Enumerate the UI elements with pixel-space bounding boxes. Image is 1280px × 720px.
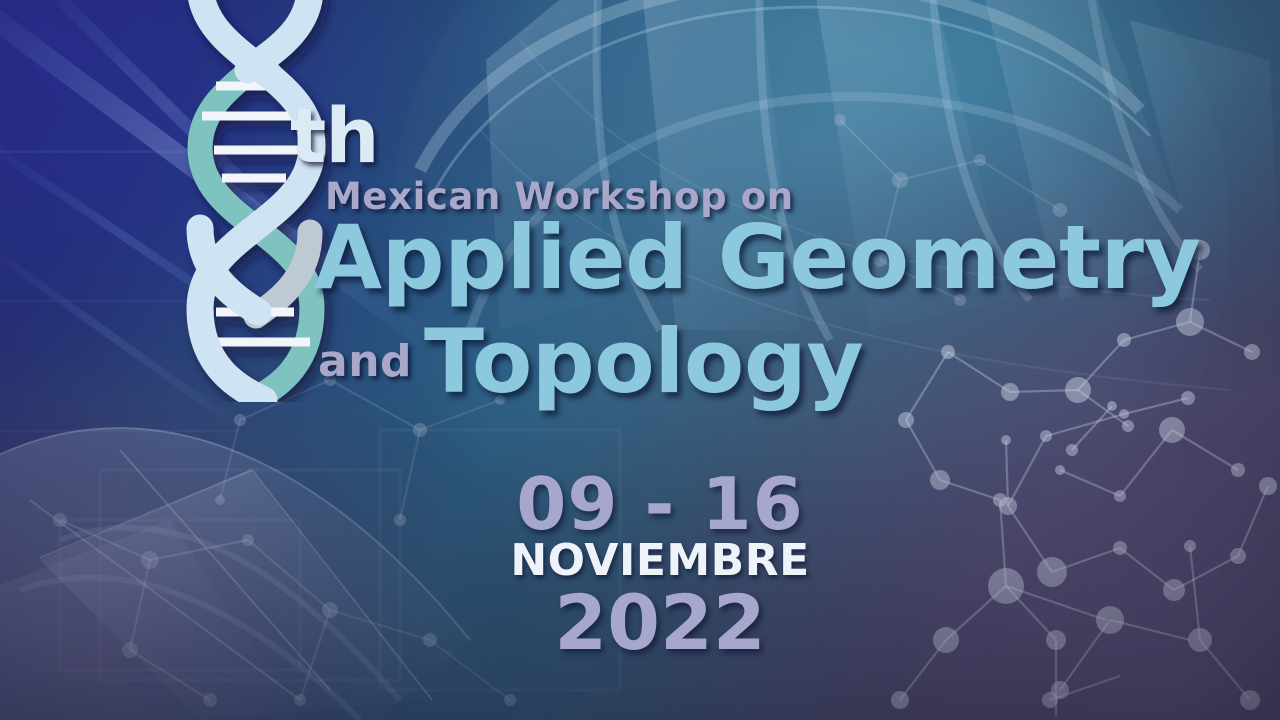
- poster-canvas: th Mexican Workshop on Applied Geometry …: [0, 0, 1280, 720]
- dna-helix-logo-icon: [160, 0, 350, 402]
